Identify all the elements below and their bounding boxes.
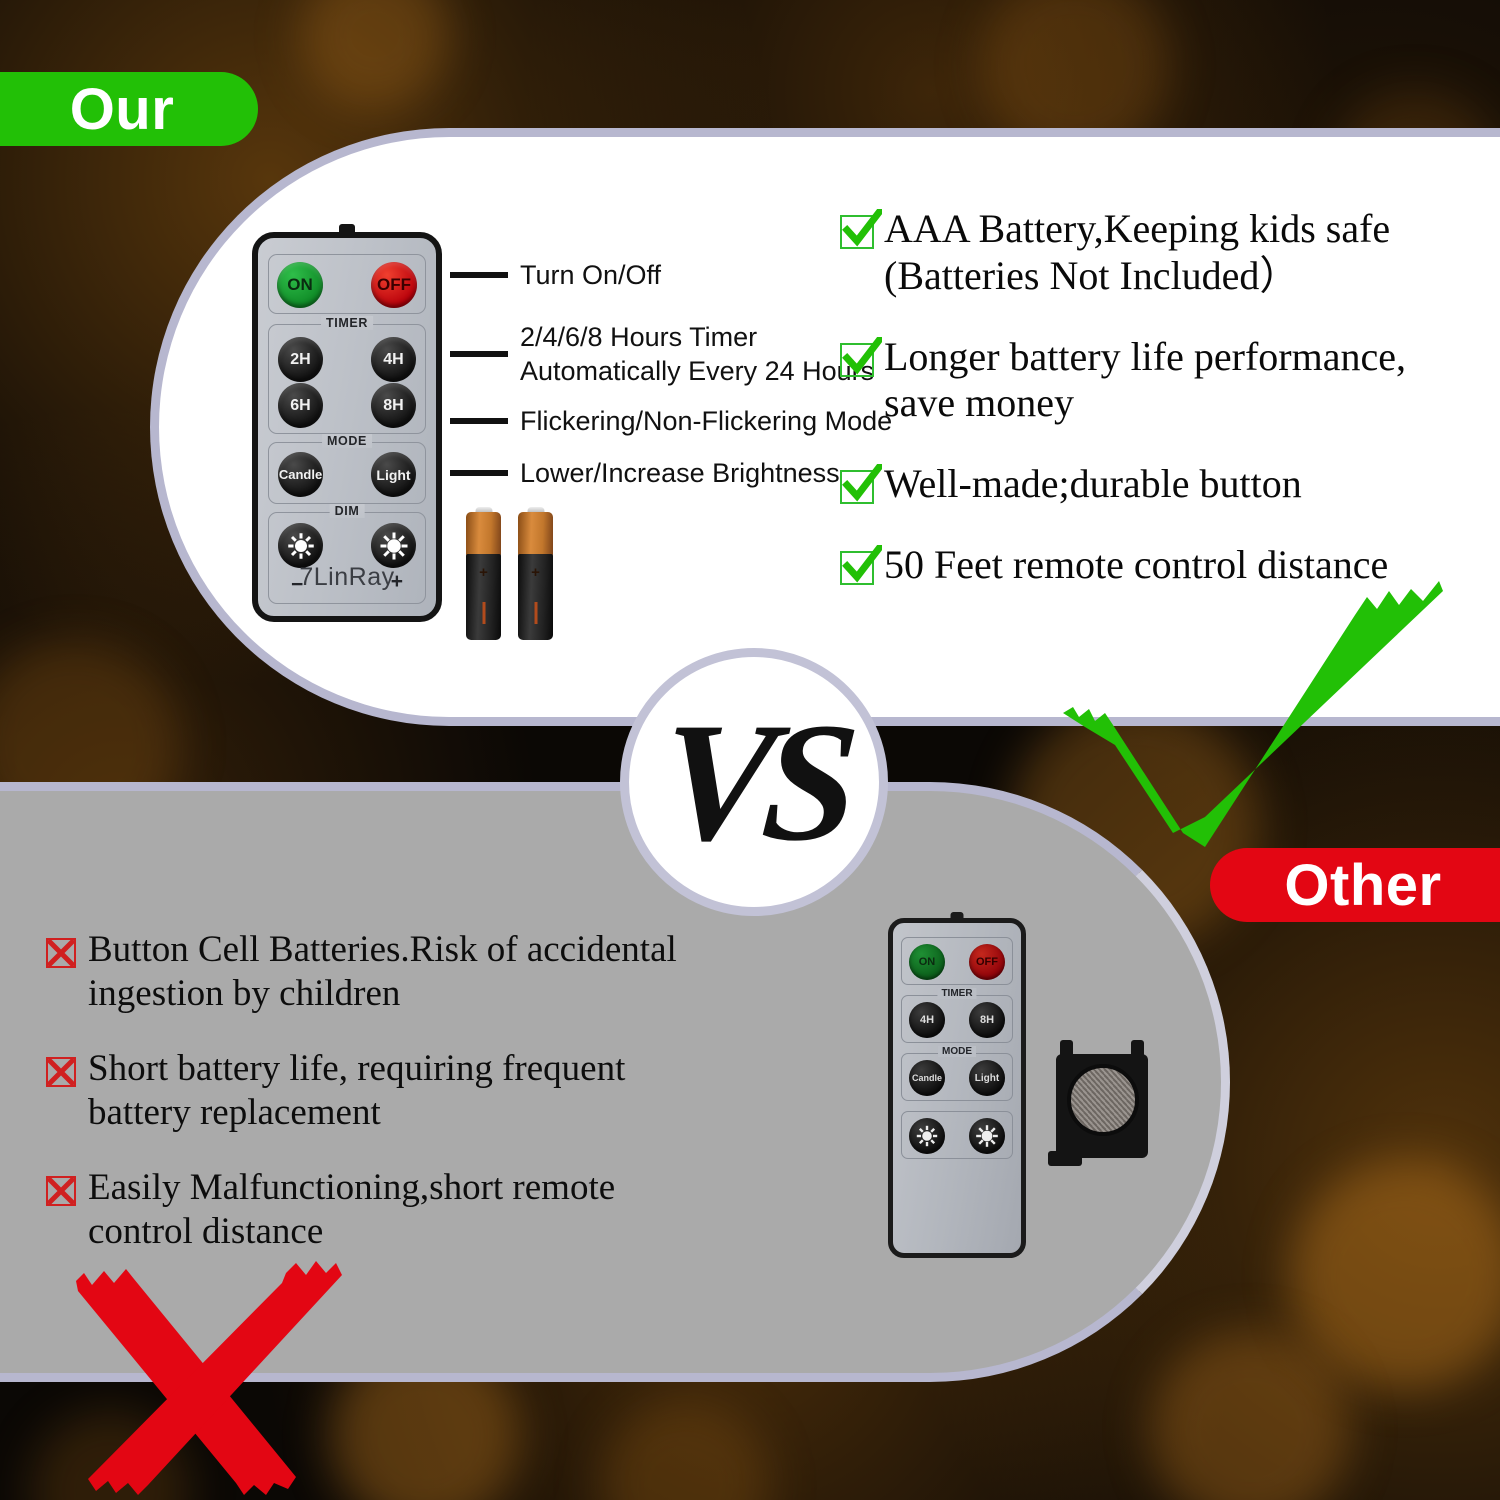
power-group: ON OFF xyxy=(268,254,426,314)
dim-label: DIM xyxy=(330,504,365,518)
timer-6h-button[interactable]: 6H xyxy=(278,383,323,428)
battery-stripe xyxy=(534,602,537,624)
battery-cap xyxy=(518,512,553,556)
mode-light-button[interactable]: Light xyxy=(371,452,416,497)
battery-plus-symbol: + xyxy=(479,564,488,581)
other-off-button[interactable]: OFF xyxy=(969,944,1005,980)
feature-text: AAA Battery,Keeping kids safe (Batteries… xyxy=(884,206,1390,300)
feature-item: Longer battery life performance, save mo… xyxy=(840,334,1485,428)
timer-group: TIMER 2H 4H 6H 8H xyxy=(268,324,426,434)
other-dim-group xyxy=(901,1111,1013,1159)
dim-increase-button[interactable] xyxy=(371,523,416,568)
check-icon xyxy=(840,215,874,249)
callout-line xyxy=(450,351,508,357)
feature-item: AAA Battery,Keeping kids safe (Batteries… xyxy=(840,206,1485,300)
green-check-brushstroke xyxy=(1055,575,1445,855)
dim-decrease-button[interactable] xyxy=(278,523,323,568)
brightness-icon xyxy=(379,531,409,561)
mode-group: MODE Candle Light xyxy=(268,442,426,504)
holder-arm xyxy=(1060,1040,1073,1086)
callout-mode: Flickering/Non-Flickering Mode xyxy=(450,404,892,438)
holder-foot xyxy=(1048,1151,1082,1166)
off-button[interactable]: OFF xyxy=(371,262,417,308)
feature-text: Longer battery life performance, save mo… xyxy=(884,334,1406,428)
our-badge: Our xyxy=(0,72,258,146)
callout-power: Turn On/Off xyxy=(450,258,661,292)
cross-icon xyxy=(46,938,76,968)
other-badge-label: Other xyxy=(1284,852,1441,919)
drawback-list: Button Cell Batteries.Risk of accidental… xyxy=(46,928,786,1284)
vs-badge: VS xyxy=(620,648,888,916)
callout-text: Turn On/Off xyxy=(520,258,661,292)
drawback-text: Short battery life, requiring frequent b… xyxy=(88,1047,625,1136)
other-mode-label: MODE xyxy=(938,1046,976,1057)
other-timer-4h-button[interactable]: 4H xyxy=(909,1002,945,1038)
mode-candle-button[interactable]: Candle xyxy=(278,452,323,497)
other-remote-control: ON OFF TIMER 4H 8H MODE Candle Light xyxy=(888,918,1026,1258)
brightness-icon xyxy=(975,1124,999,1148)
other-timer-8h-button[interactable]: 8H xyxy=(969,1002,1005,1038)
brightness-icon xyxy=(915,1124,939,1148)
timer-8h-button[interactable]: 8H xyxy=(371,383,416,428)
other-power-group: ON OFF xyxy=(901,937,1013,985)
check-icon xyxy=(840,470,874,504)
battery-plus-symbol: + xyxy=(531,564,540,581)
callout-dim: Lower/Increase Brightness xyxy=(450,456,840,490)
callout-timer: 2/4/6/8 Hours Timer Automatically Every … xyxy=(450,320,874,388)
other-timer-group: TIMER 4H 8H xyxy=(901,995,1013,1043)
drawback-text: Button Cell Batteries.Risk of accidental… xyxy=(88,928,677,1017)
cross-icon xyxy=(46,1057,76,1087)
callout-text: Lower/Increase Brightness xyxy=(520,456,840,490)
ir-emitter-nub xyxy=(951,912,964,920)
feature-list: AAA Battery,Keeping kids safe (Batteries… xyxy=(840,206,1485,623)
vs-label: VS xyxy=(656,697,852,867)
other-timer-label: TIMER xyxy=(937,988,976,999)
callout-line xyxy=(450,470,508,476)
other-mode-candle-button[interactable]: Candle xyxy=(909,1060,945,1096)
coin-cell-battery-holder xyxy=(1048,1040,1156,1172)
feature-item: Well-made;durable button xyxy=(840,461,1485,508)
callout-line xyxy=(450,272,508,278)
callout-line xyxy=(450,418,508,424)
callout-text: 2/4/6/8 Hours Timer Automatically Every … xyxy=(520,320,874,388)
red-cross-brushstroke xyxy=(60,1245,360,1500)
our-badge-label: Our xyxy=(70,76,175,143)
timer-label: TIMER xyxy=(321,316,373,330)
timer-2h-button[interactable]: 2H xyxy=(278,337,323,382)
callout-text: Flickering/Non-Flickering Mode xyxy=(520,404,892,438)
other-mode-light-button[interactable]: Light xyxy=(969,1060,1005,1096)
mode-label: MODE xyxy=(322,434,372,448)
coin-cell-battery xyxy=(1067,1064,1139,1136)
cross-icon xyxy=(46,1176,76,1206)
on-button[interactable]: ON xyxy=(277,262,323,308)
check-icon xyxy=(840,343,874,377)
other-dim-increase-button[interactable] xyxy=(969,1118,1005,1154)
drawback-text: Easily Malfunctioning,short remote contr… xyxy=(88,1166,615,1255)
ir-emitter-nub xyxy=(339,224,355,234)
other-mode-group: MODE Candle Light xyxy=(901,1053,1013,1101)
drawback-item: Button Cell Batteries.Risk of accidental… xyxy=(46,928,786,1017)
remote-brand-label: 7LinRay xyxy=(258,563,436,592)
timer-4h-button[interactable]: 4H xyxy=(371,337,416,382)
other-on-button[interactable]: ON xyxy=(909,944,945,980)
drawback-item: Easily Malfunctioning,short remote contr… xyxy=(46,1166,786,1255)
battery-stripe xyxy=(482,602,485,624)
brightness-icon xyxy=(286,531,316,561)
feature-text: Well-made;durable button xyxy=(884,461,1302,508)
aaa-battery: + xyxy=(466,512,501,640)
battery-cap xyxy=(466,512,501,556)
other-badge: Other xyxy=(1210,848,1500,922)
other-dim-decrease-button[interactable] xyxy=(909,1118,945,1154)
our-remote-control: ON OFF TIMER 2H 4H 6H 8H MODE Candle Lig… xyxy=(252,232,442,622)
aaa-battery: + xyxy=(518,512,553,640)
drawback-item: Short battery life, requiring frequent b… xyxy=(46,1047,786,1136)
check-icon xyxy=(840,551,874,585)
